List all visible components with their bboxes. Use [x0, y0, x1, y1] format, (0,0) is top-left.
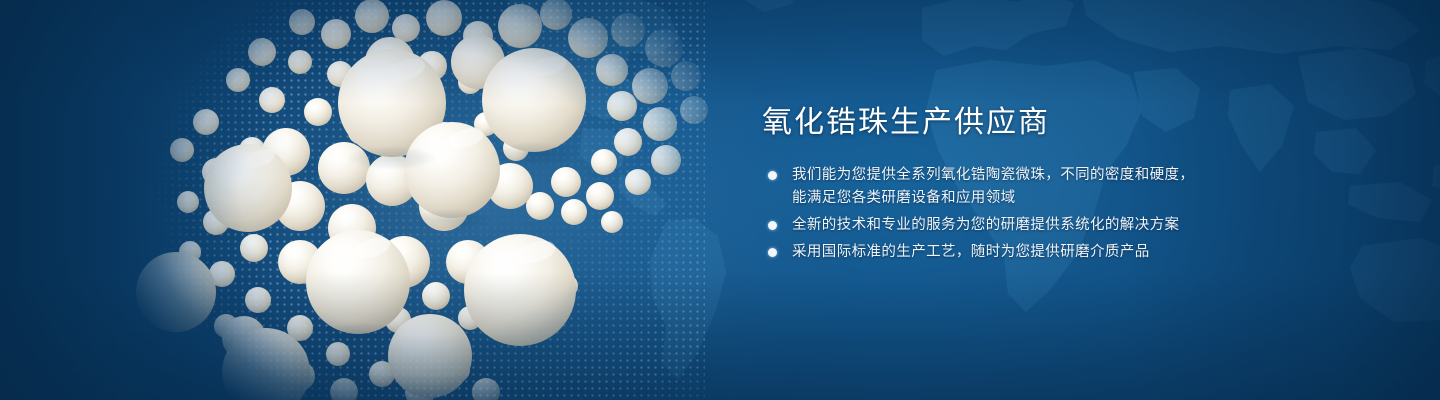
feature-text-line: 采用国际标准的生产工艺，随时为您提供研磨介质产品 — [792, 241, 1322, 263]
feature-text-line: 我们能为您提供全系列氧化锆陶瓷微珠，不同的密度和硬度， — [792, 164, 1322, 186]
bullet-dot-icon — [768, 171, 777, 180]
feature-item: 采用国际标准的生产工艺，随时为您提供研磨介质产品 — [762, 241, 1322, 263]
feature-text-line: 能满足您各类研磨设备和应用领域 — [792, 187, 1322, 209]
banner-headline: 氧化锆珠生产供应商 — [762, 104, 1322, 142]
banner-feature-list: 我们能为您提供全系列氧化锆陶瓷微珠，不同的密度和硬度， 能满足您各类研磨设备和应… — [762, 164, 1322, 263]
hero-banner: 氧化锆珠生产供应商 我们能为您提供全系列氧化锆陶瓷微珠，不同的密度和硬度， 能满… — [0, 0, 1440, 400]
feature-item: 全新的技术和专业的服务为您的研磨提供系统化的解决方案 — [762, 214, 1322, 236]
feature-item: 我们能为您提供全系列氧化锆陶瓷微珠，不同的密度和硬度， 能满足您各类研磨设备和应… — [762, 164, 1322, 209]
bullet-dot-icon — [768, 221, 777, 230]
feature-text-line: 全新的技术和专业的服务为您的研磨提供系统化的解决方案 — [792, 214, 1322, 236]
bullet-dot-icon — [768, 248, 777, 257]
banner-copy: 氧化锆珠生产供应商 我们能为您提供全系列氧化锆陶瓷微珠，不同的密度和硬度， 能满… — [762, 104, 1322, 263]
